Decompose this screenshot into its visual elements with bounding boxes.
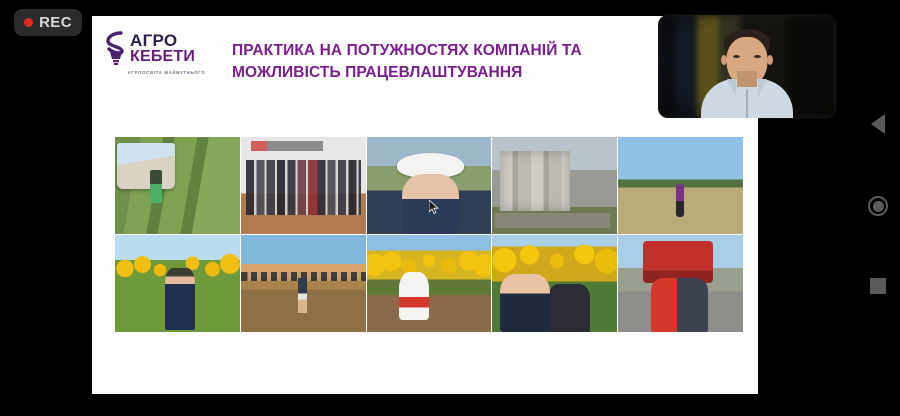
collage-photo-3: [367, 137, 492, 234]
collage-photo-1: [115, 137, 240, 234]
record-dot-icon: [24, 18, 33, 27]
recording-badge-label: REC: [39, 14, 72, 31]
slide-title: ПРАКТИКА НА ПОТУЖНОСТЯХ КОМПАНІЙ ТА МОЖЛ…: [232, 40, 652, 84]
presenter-eye-right: [754, 55, 761, 58]
photo-collage: [115, 137, 743, 333]
logo-wordmark: АГРО КЕБЕТИ: [130, 32, 195, 65]
presenter-collar-left: [727, 79, 736, 97]
presenter-earphone-left-icon: [721, 55, 727, 65]
logo-tagline: АГРООСВІТА МАЙБУТНЬОГО: [104, 70, 229, 75]
lightbulb-s-logo-icon: [104, 30, 127, 66]
presenter-earphone-right-icon: [767, 55, 773, 65]
presenter-eye-left: [733, 55, 740, 58]
recording-badge: REC: [14, 9, 82, 36]
collage-photo-7: [241, 235, 366, 332]
screen-root: REC АГРО КЕБЕТИ АГРООСВІТА МАЙБУТН: [0, 0, 900, 416]
collage-photo-6: [115, 235, 240, 332]
collage-photo-2: [241, 137, 366, 234]
record-circle-icon: [868, 196, 888, 216]
collage-photo-10: [618, 235, 743, 332]
stop-button[interactable]: [856, 272, 900, 300]
logo-line-agro: АГРО: [130, 32, 195, 49]
record-circle-core: [873, 201, 884, 212]
collage-photo-8: [367, 235, 492, 332]
collage-photo-9: [492, 235, 617, 332]
stop-square-icon: [870, 278, 886, 294]
presenter-neck: [737, 71, 757, 87]
presenter-collar-right: [758, 79, 767, 97]
presenter-video[interactable]: [658, 15, 836, 118]
collage-photo-5: [618, 137, 743, 234]
back-button[interactable]: [856, 110, 900, 138]
presenter-figure: [701, 29, 793, 118]
brand-logo: АГРО КЕБЕТИ АГРООСВІТА МАЙБУТНЬОГО: [104, 30, 229, 75]
logo-line-kebety: КЕБЕТИ: [130, 49, 195, 65]
record-button[interactable]: [856, 192, 900, 220]
presenter-shirt-placket: [746, 89, 748, 118]
logo-row: АГРО КЕБЕТИ: [104, 30, 229, 66]
collage-photo-4: [492, 137, 617, 234]
presenter-shirt: [701, 79, 793, 118]
triangle-left-icon: [871, 114, 885, 134]
